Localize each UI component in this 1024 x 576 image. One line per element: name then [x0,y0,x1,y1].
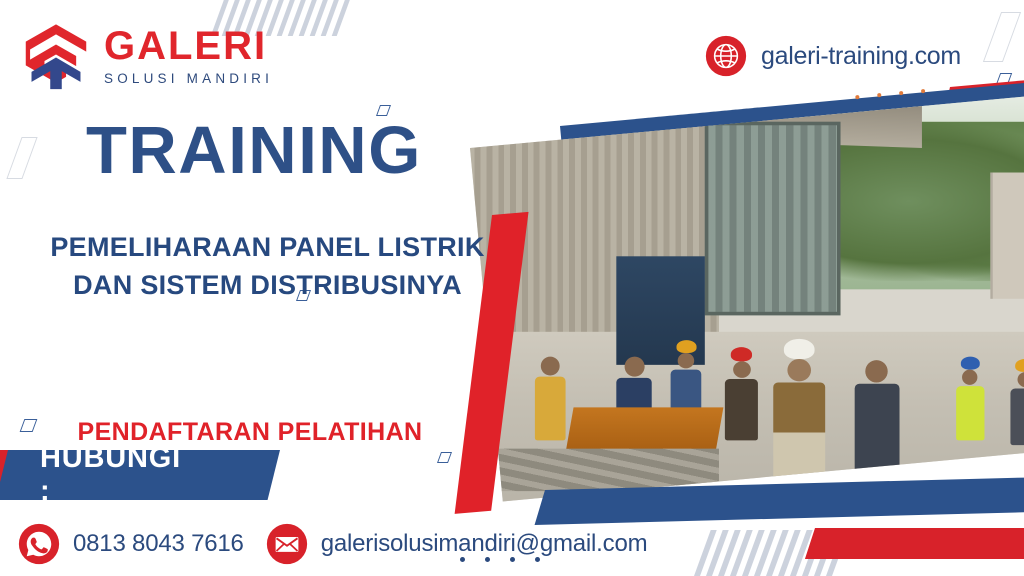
parallelogram-accent [20,419,38,432]
website-url-text: galeri-training.com [761,42,961,71]
globe-icon [705,35,747,77]
brand-logo: GALERI SOLUSI MANDIRI [20,20,273,92]
cta-label: HUBUNGI : [40,450,181,500]
galeri-solusi-mandiri-logo-icon [20,20,92,92]
parallelogram-accent [6,137,37,179]
parallelogram-accent [983,12,1021,62]
red-banner-bar-bottom [805,528,1024,559]
whatsapp-number[interactable]: 0813 8043 7616 [73,530,244,558]
page-subtitle: PEMELIHARAAN PANEL LISTRIK DAN SISTEM DI… [40,228,495,305]
website-link[interactable]: galeri-training.com [705,35,961,77]
email-address[interactable]: galerisolusimandiri@gmail.com [321,530,648,558]
brand-tagline: SOLUSI MANDIRI [104,71,273,86]
email-icon[interactable] [266,523,308,565]
parallelogram-accent [437,452,452,463]
brand-name: GALERI [104,26,273,66]
contact-list: 0813 8043 7616 galerisolusimandiri@gmail… [18,523,647,565]
training-promo-banner: GALERI SOLUSI MANDIRI galeri-training.co… [0,0,1024,576]
blue-dots-decoration [460,557,540,562]
whatsapp-icon[interactable] [18,523,60,565]
training-session-photo [470,95,1024,502]
page-title: TRAINING [86,117,422,184]
